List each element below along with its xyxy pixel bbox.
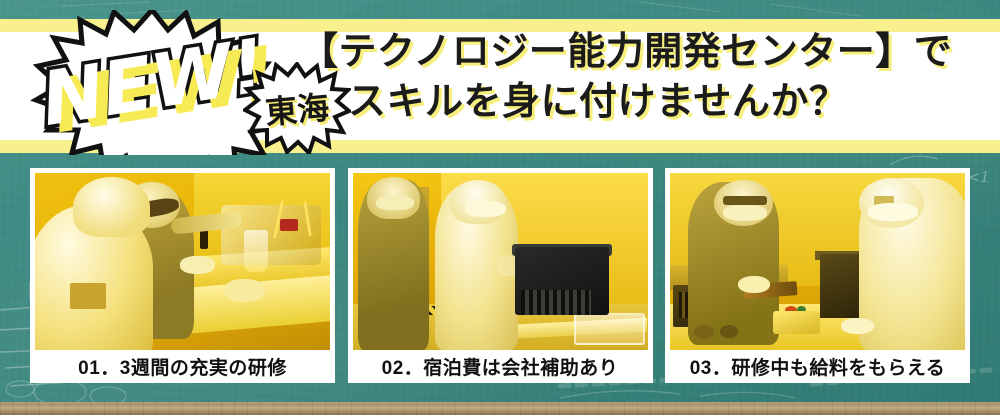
caption-text-1: 01．3週間の充実の研修: [78, 353, 287, 380]
photo-cleanroom-workbench: [670, 173, 965, 350]
caption-text-2: 02．宿泊費は会社補助あり: [382, 353, 619, 380]
feature-card-1[interactable]: 01．3週間の充実の研修: [30, 168, 335, 396]
photo-frame-1: 01．3週間の充実の研修: [30, 168, 335, 383]
region-badge-label: 東海: [263, 82, 331, 133]
caption-text-3: 03．研修中も給料をもらえる: [690, 353, 946, 380]
new-badge-label: NEW!: [36, 23, 271, 143]
feature-card-3[interactable]: 03．研修中も給料をもらえる: [665, 168, 970, 396]
feature-card-2[interactable]: 02．宿泊費は会社補助あり: [348, 168, 653, 396]
caption-bar-3: 03．研修中も給料をもらえる: [670, 350, 965, 383]
headline-line-1: 【テクノロジー能力開発センター】で: [300, 27, 990, 77]
photo-cleanroom-bench: [35, 173, 330, 350]
feature-card-list: 01．3週間の充実の研修 02．宿泊費は会社補助あり: [0, 168, 1000, 396]
region-badge-text-wrap: 東海: [239, 57, 355, 158]
photo-frame-3: 03．研修中も給料をもらえる: [665, 168, 970, 383]
caption-bar-2: 02．宿泊費は会社補助あり: [353, 350, 648, 383]
headline-line-2: スキルを身に付けませんか？: [300, 77, 990, 127]
photo-frame-2: 02．宿泊費は会社補助あり: [348, 168, 653, 383]
photo-cleanroom-case: [353, 173, 648, 350]
chalk-ledge: [0, 402, 1000, 415]
page-title: 【テクノロジー能力開発センター】で スキルを身に付けませんか？: [300, 27, 990, 127]
caption-bar-1: 01．3週間の充実の研修: [35, 350, 330, 383]
region-badge: 東海: [243, 62, 351, 154]
